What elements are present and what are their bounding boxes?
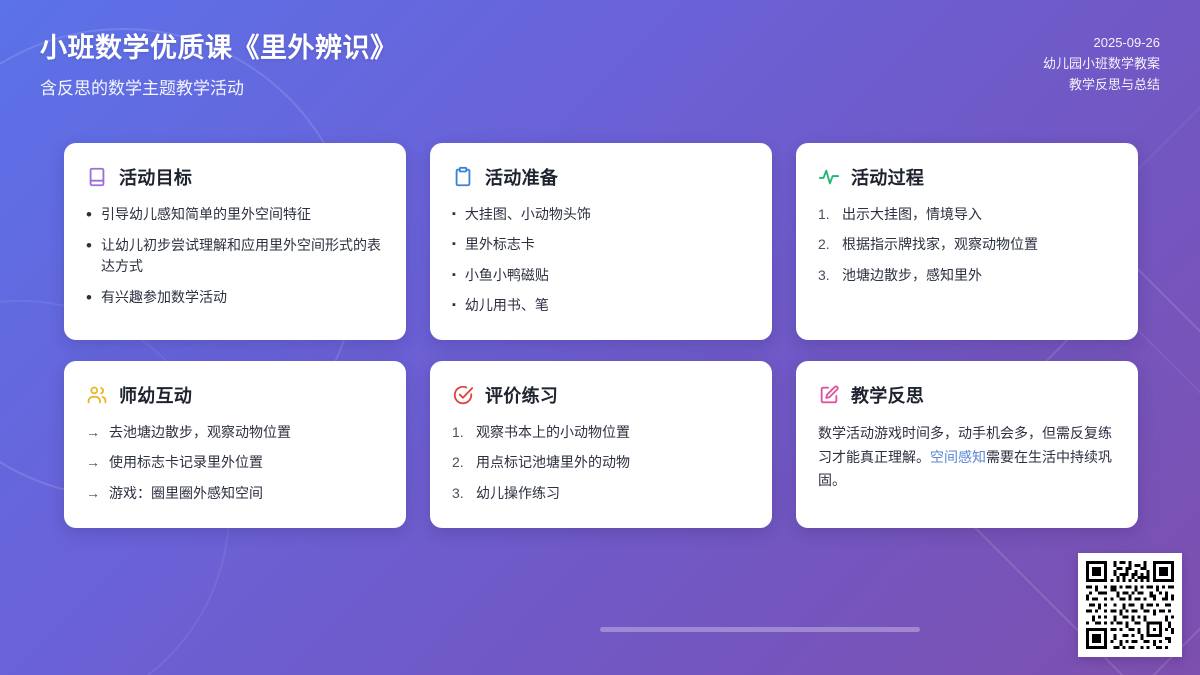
list-item-text: 去池塘边散步，观察动物位置 bbox=[109, 422, 384, 443]
meta-category: 幼儿园小班数学教案 bbox=[1043, 53, 1160, 74]
check-circle-icon bbox=[452, 384, 474, 406]
preparation-list: ▪ 大挂图、小动物头饰 ▪ 里外标志卡 ▪ 小鱼小鸭磁贴 ▪ 幼儿用书、笔 bbox=[452, 204, 750, 316]
list-number: 1. bbox=[452, 422, 467, 443]
users-icon bbox=[86, 384, 108, 406]
list-number: 1. bbox=[818, 204, 833, 225]
list-item: ▪ 小鱼小鸭磁贴 bbox=[452, 265, 750, 286]
list-item: → 游戏：圈里圈外感知空间 bbox=[86, 483, 384, 504]
evaluation-list: 1. 观察书本上的小动物位置 2. 用点标记池塘里外的动物 3. 幼儿操作练习 bbox=[452, 422, 750, 504]
arrow-right-icon: → bbox=[86, 483, 100, 504]
list-item-text: 使用标志卡记录里外位置 bbox=[109, 452, 384, 473]
list-number: 2. bbox=[452, 452, 467, 473]
card-header: 活动目标 bbox=[86, 164, 384, 190]
arrow-right-icon: → bbox=[86, 422, 100, 443]
list-item: • 引导幼儿感知简单的里外空间特征 bbox=[86, 204, 384, 226]
card-header: 师幼互动 bbox=[86, 382, 384, 408]
list-item-text: 观察书本上的小动物位置 bbox=[476, 422, 750, 443]
list-item-text: 幼儿操作练习 bbox=[476, 483, 750, 504]
card-title: 评价练习 bbox=[485, 382, 558, 408]
card-activity-goal[interactable]: 活动目标 • 引导幼儿感知简单的里外空间特征 • 让幼儿初步尝试理解和应用里外空… bbox=[64, 143, 406, 340]
meta-date: 2025-09-26 bbox=[1043, 32, 1160, 53]
card-activity-preparation[interactable]: 活动准备 ▪ 大挂图、小动物头饰 ▪ 里外标志卡 ▪ 小鱼小鸭磁贴 ▪ 幼儿用书… bbox=[430, 143, 772, 340]
list-item-text: 根据指示牌找家，观察动物位置 bbox=[842, 234, 1116, 255]
arrow-right-icon: → bbox=[86, 452, 100, 473]
list-item-text: 让幼儿初步尝试理解和应用里外空间形式的表达方式 bbox=[101, 235, 384, 278]
goal-list: • 引导幼儿感知简单的里外空间特征 • 让幼儿初步尝试理解和应用里外空间形式的表… bbox=[86, 204, 384, 309]
list-item: ▪ 大挂图、小动物头饰 bbox=[452, 204, 750, 225]
list-number: 3. bbox=[818, 265, 833, 286]
list-item: 1. 观察书本上的小动物位置 bbox=[452, 422, 750, 443]
bullet-square-icon: ▪ bbox=[452, 204, 456, 224]
page-title: 小班数学优质课《里外辨识》 bbox=[40, 32, 398, 66]
list-item: 2. 用点标记池塘里外的动物 bbox=[452, 452, 750, 473]
meta-section: 教学反思与总结 bbox=[1043, 74, 1160, 95]
card-title: 师幼互动 bbox=[119, 382, 192, 408]
list-item: → 使用标志卡记录里外位置 bbox=[86, 452, 384, 473]
card-header: 评价练习 bbox=[452, 382, 750, 408]
qr-code-image bbox=[1086, 561, 1174, 649]
list-item: ▪ 幼儿用书、笔 bbox=[452, 295, 750, 316]
list-item: 2. 根据指示牌找家，观察动物位置 bbox=[818, 234, 1116, 255]
header-meta: 2025-09-26 幼儿园小班数学教案 教学反思与总结 bbox=[1043, 32, 1160, 95]
bottom-divider bbox=[600, 627, 920, 632]
book-icon bbox=[86, 166, 108, 188]
bullet-square-icon: ▪ bbox=[452, 234, 456, 254]
list-item-text: 大挂图、小动物头饰 bbox=[465, 204, 750, 225]
list-item-text: 池塘边散步，感知里外 bbox=[842, 265, 1116, 286]
interaction-list: → 去池塘边散步，观察动物位置 → 使用标志卡记录里外位置 → 游戏：圈里圈外感… bbox=[86, 422, 384, 504]
card-header: 教学反思 bbox=[818, 382, 1116, 408]
list-item-text: 用点标记池塘里外的动物 bbox=[476, 452, 750, 473]
list-item-text: 里外标志卡 bbox=[465, 234, 750, 255]
list-item-text: 小鱼小鸭磁贴 bbox=[465, 265, 750, 286]
list-item: • 有兴趣参加数学活动 bbox=[86, 287, 384, 309]
card-teaching-reflection[interactable]: 教学反思 数学活动游戏时间多，动手机会多，但需反复练习才能真正理解。空间感知需要… bbox=[796, 361, 1138, 528]
card-header: 活动准备 bbox=[452, 164, 750, 190]
title-block: 小班数学优质课《里外辨识》 含反思的数学主题教学活动 bbox=[40, 32, 398, 99]
list-item: 3. 幼儿操作练习 bbox=[452, 483, 750, 504]
list-number: 3. bbox=[452, 483, 467, 504]
bullet-square-icon: ▪ bbox=[452, 295, 456, 315]
list-number: 2. bbox=[818, 234, 833, 255]
list-item: 3. 池塘边散步，感知里外 bbox=[818, 265, 1116, 286]
bullet-dot-icon: • bbox=[86, 204, 92, 226]
page-subtitle: 含反思的数学主题教学活动 bbox=[40, 74, 398, 99]
card-evaluation-practice[interactable]: 评价练习 1. 观察书本上的小动物位置 2. 用点标记池塘里外的动物 3. 幼儿… bbox=[430, 361, 772, 528]
card-teacher-child-interaction[interactable]: 师幼互动 → 去池塘边散步，观察动物位置 → 使用标志卡记录里外位置 → 游戏：… bbox=[64, 361, 406, 528]
list-item: • 让幼儿初步尝试理解和应用里外空间形式的表达方式 bbox=[86, 235, 384, 278]
activity-pulse-icon bbox=[818, 166, 840, 188]
edit-square-icon bbox=[818, 384, 840, 406]
bullet-square-icon: ▪ bbox=[452, 265, 456, 285]
list-item-text: 游戏：圈里圈外感知空间 bbox=[109, 483, 384, 504]
card-header: 活动过程 bbox=[818, 164, 1116, 190]
list-item-text: 幼儿用书、笔 bbox=[465, 295, 750, 316]
card-title: 教学反思 bbox=[851, 382, 924, 408]
bullet-dot-icon: • bbox=[86, 287, 92, 309]
process-list: 1. 出示大挂图，情境导入 2. 根据指示牌找家，观察动物位置 3. 池塘边散步… bbox=[818, 204, 1116, 286]
list-item-text: 有兴趣参加数学活动 bbox=[101, 287, 384, 308]
qr-code[interactable] bbox=[1078, 553, 1182, 657]
card-title: 活动过程 bbox=[851, 164, 924, 190]
list-item-text: 出示大挂图，情境导入 bbox=[842, 204, 1116, 225]
slide-header: 小班数学优质课《里外辨识》 含反思的数学主题教学活动 2025-09-26 幼儿… bbox=[40, 32, 1160, 99]
list-item-text: 引导幼儿感知简单的里外空间特征 bbox=[101, 204, 384, 225]
cards-grid: 活动目标 • 引导幼儿感知简单的里外空间特征 • 让幼儿初步尝试理解和应用里外空… bbox=[64, 143, 1138, 528]
bullet-dot-icon: • bbox=[86, 235, 92, 257]
list-item: 1. 出示大挂图，情境导入 bbox=[818, 204, 1116, 225]
card-title: 活动目标 bbox=[119, 164, 192, 190]
card-activity-process[interactable]: 活动过程 1. 出示大挂图，情境导入 2. 根据指示牌找家，观察动物位置 3. … bbox=[796, 143, 1138, 340]
card-title: 活动准备 bbox=[485, 164, 558, 190]
list-item: ▪ 里外标志卡 bbox=[452, 234, 750, 255]
reflection-highlight: 空间感知 bbox=[930, 449, 986, 465]
list-item: → 去池塘边散步，观察动物位置 bbox=[86, 422, 384, 443]
clipboard-icon bbox=[452, 166, 474, 188]
slide-root: 小班数学优质课《里外辨识》 含反思的数学主题教学活动 2025-09-26 幼儿… bbox=[0, 0, 1200, 675]
reflection-paragraph: 数学活动游戏时间多，动手机会多，但需反复练习才能真正理解。空间感知需要在生活中持… bbox=[818, 422, 1116, 493]
